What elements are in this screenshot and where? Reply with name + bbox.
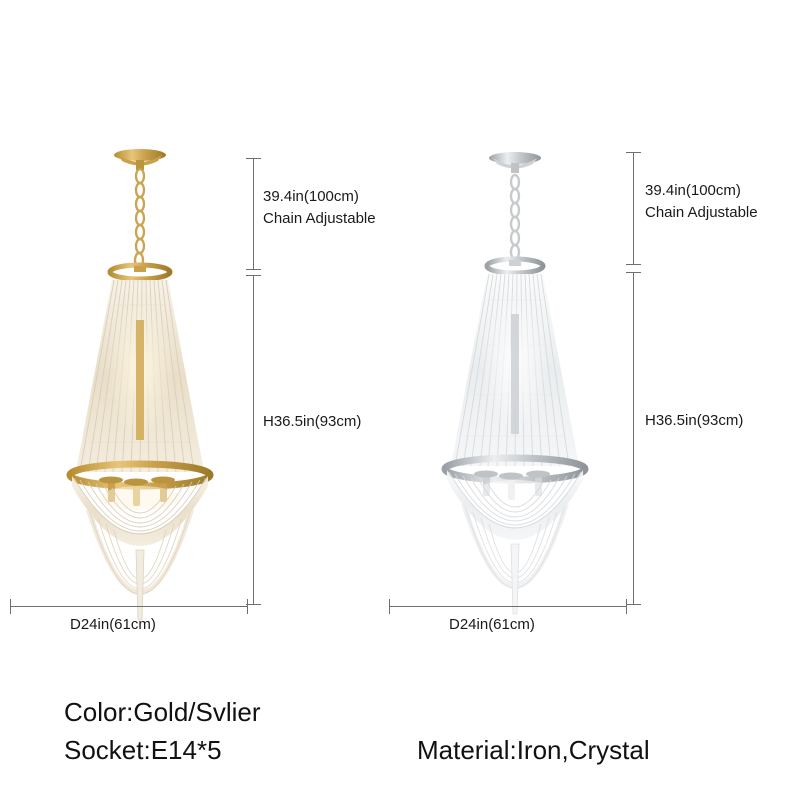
silver-chain-adjustable-text: Chain Adjustable: [645, 202, 758, 224]
silver-diameter-label: D24in(61cm): [449, 615, 535, 635]
gold-diameter-dimension-rule: [10, 606, 248, 607]
gold-chain-adjustable-text: Chain Adjustable: [263, 208, 376, 230]
silver-top-ring: [487, 259, 543, 273]
silver-chain-dimension-rule: [633, 152, 634, 265]
silver-height-dimension-rule: [633, 272, 634, 605]
gold-upper-beads: [76, 280, 204, 472]
gold-chain-length-text: 39.4in(100cm): [263, 186, 376, 208]
spec-material: Material:Iron,Crystal: [417, 735, 650, 766]
silver-chain-dimension-label: 39.4in(100cm) Chain Adjustable: [645, 180, 758, 224]
silver-canopy: [489, 152, 541, 173]
silver-chandelier-illustration: [375, 120, 675, 740]
gold-chain-dimension-rule: [253, 158, 254, 270]
silver-height-label: H36.5in(93cm): [645, 411, 743, 431]
silver-candle-arms: [474, 471, 555, 505]
gold-chain-dimension-label: 39.4in(100cm) Chain Adjustable: [263, 186, 376, 230]
spec-socket: Socket:E14*5: [64, 735, 222, 766]
silver-diameter-dimension-rule: [389, 606, 627, 607]
gold-candle-arms: [99, 477, 180, 511]
product-diagram-canvas: 39.4in(100cm) Chain Adjustable H36.5in(9…: [0, 0, 800, 800]
gold-height-dimension-rule: [253, 275, 254, 605]
gold-height-label: H36.5in(93cm): [263, 412, 361, 432]
gold-diameter-label: D24in(61cm): [70, 615, 156, 635]
gold-chain: [135, 169, 144, 267]
silver-upper-beads: [451, 274, 579, 466]
silver-chain: [511, 175, 519, 259]
gold-chandelier-illustration: [0, 120, 300, 740]
spec-color: Color:Gold/Svlier: [64, 697, 261, 728]
gold-canopy: [114, 149, 166, 170]
silver-chain-length-text: 39.4in(100cm): [645, 180, 758, 202]
gold-top-ring: [110, 265, 170, 279]
